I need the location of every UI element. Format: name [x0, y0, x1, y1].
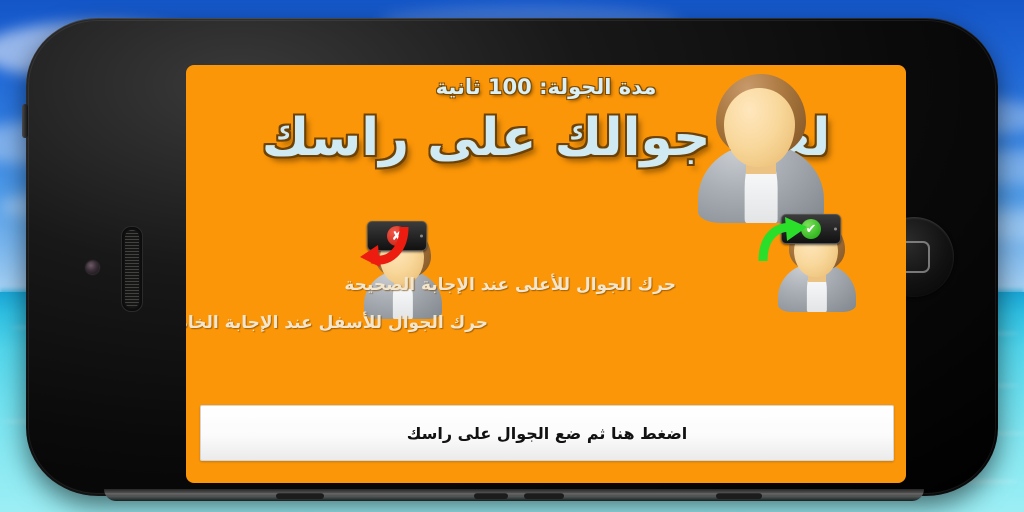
phone-port	[524, 493, 564, 499]
phone-bottom-edge	[104, 489, 924, 501]
instruction-correct-text: حرك الجوال للأعلى عند الإجابة الصحيحة	[344, 275, 676, 295]
arrow-up-green-icon	[755, 215, 811, 271]
side-button[interactable]	[22, 104, 28, 138]
phone-camera-dot-icon	[420, 235, 423, 238]
instruction-wrong-text: حرك الجوال للأسفل عند الإجابة الخاطئة	[186, 313, 488, 333]
earpiece-speaker-icon	[121, 226, 143, 312]
phone-port	[716, 493, 762, 499]
speaker-mesh	[125, 230, 139, 308]
phone-port	[276, 493, 324, 499]
game-screen: مدة الجولة: 100 ثانية لعبة جوالك على راس…	[186, 65, 906, 483]
screenshot-root: مدة الجولة: 100 ثانية لعبة جوالك على راس…	[0, 0, 1024, 512]
front-camera-icon	[86, 261, 99, 274]
avatar-head	[724, 88, 795, 167]
arrow-down-red-icon	[358, 217, 414, 273]
avatar-main	[698, 71, 824, 223]
phone-port	[474, 493, 508, 499]
phone-camera-dot-icon	[834, 228, 837, 231]
start-game-button[interactable]: اضغط هنا ثم ضع الجوال على راسك	[200, 405, 894, 461]
phone-device: مدة الجولة: 100 ثانية لعبة جوالك على راس…	[26, 18, 998, 496]
